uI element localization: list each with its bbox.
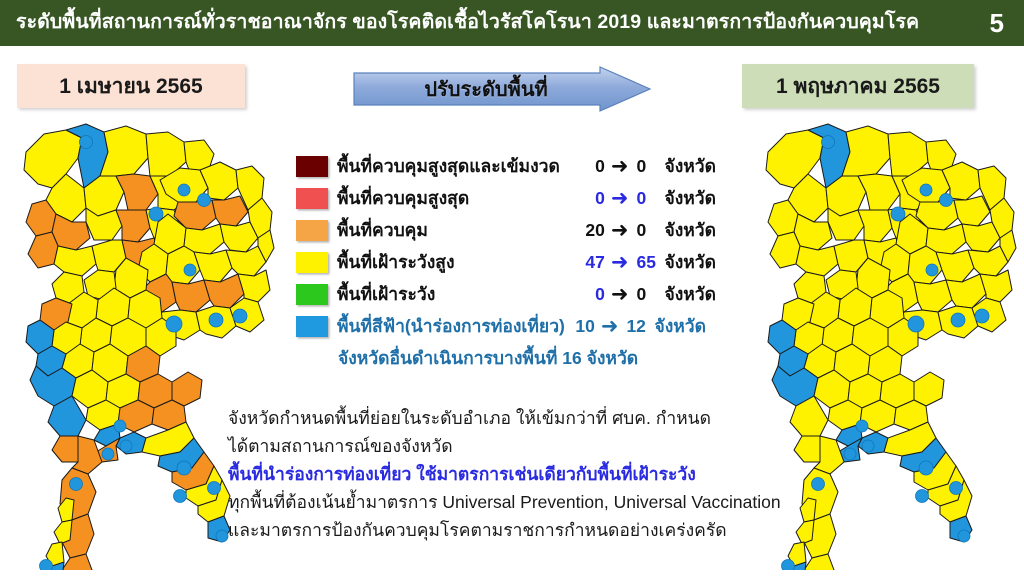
legend-row-orange: พื้นที่ควบคุม 20 ➜ 0 จังหวัด <box>296 214 716 246</box>
arrow-right-icon: ➜ <box>605 188 631 209</box>
date-label-before: 1 เมษายน 2565 <box>59 70 202 103</box>
legend-swatch-dark-red <box>296 156 328 177</box>
legend-swatch-orange <box>296 220 328 241</box>
legend-label-dark-red: พื้นที่ควบคุมสูงสุดและเข้มงวด <box>337 152 560 180</box>
legend-unit-green: จังหวัด <box>656 280 716 308</box>
legend-values-red: 0 ➜ 0 จังหวัด <box>581 184 716 212</box>
legend-row-dark-red: พื้นที่ควบคุมสูงสุดและเข้มงวด 0 ➜ 0 จังห… <box>296 150 716 182</box>
legend-label-blue: พื้นที่สีฟ้า(นำร่องการท่องเที่ยว) <box>337 312 565 340</box>
legend-to-orange: 0 <box>630 220 656 241</box>
arrow-right-icon: ➜ <box>605 156 631 177</box>
legend-from-orange: 20 <box>581 220 605 241</box>
legend: พื้นที่ควบคุมสูงสุดและเข้มงวด 0 ➜ 0 จังห… <box>296 150 716 372</box>
title-bar: ระดับพื้นที่สถานการณ์ทั่วราชอาณาจักร ของ… <box>0 0 1024 46</box>
legend-to-blue: 12 <box>620 316 646 337</box>
legend-row-blue: พื้นที่สีฟ้า(นำร่องการท่องเที่ยว) 10 ➜ 1… <box>296 310 716 342</box>
note-line-1: จังหวัดกำหนดพื้นที่ย่อยในระดับอำเภอ ให้เ… <box>228 404 808 432</box>
legend-from-dark-red: 0 <box>581 156 605 177</box>
legend-label-yellow: พื้นที่เฝ้าระวังสูง <box>337 248 455 276</box>
note-line-3-highlight: พื้นที่นำร่องการท่องเที่ยว ใช้มาตรการเช่… <box>228 460 808 488</box>
legend-unit-dark-red: จังหวัด <box>656 152 716 180</box>
legend-row-green: พื้นที่เฝ้าระวัง 0 ➜ 0 จังหวัด <box>296 278 716 310</box>
date-chip-before: 1 เมษายน 2565 <box>17 64 245 108</box>
arrow-right-icon: ➜ <box>605 284 631 305</box>
note-line-5: และมาตรการป้องกันควบคุมโรคตามราชการกำหนด… <box>228 516 808 544</box>
legend-to-dark-red: 0 <box>630 156 656 177</box>
legend-row-red: พื้นที่ควบคุมสูงสุด 0 ➜ 0 จังหวัด <box>296 182 716 214</box>
legend-to-yellow: 65 <box>630 252 656 273</box>
legend-values-yellow: 47 ➜ 65 จังหวัด <box>581 248 716 276</box>
arrow-right-icon: ➜ <box>595 316 621 337</box>
legend-row-yellow: พื้นที่เฝ้าระวังสูง 47 ➜ 65 จังหวัด <box>296 246 716 278</box>
legend-from-yellow: 47 <box>581 252 605 273</box>
arrow-right-icon: ➜ <box>605 220 631 241</box>
notes-block: จังหวัดกำหนดพื้นที่ย่อยในระดับอำเภอ ให้เ… <box>228 404 808 544</box>
transition-arrow-banner: ปรับระดับพื้นที่ <box>352 66 652 112</box>
legend-unit-yellow: จังหวัด <box>656 248 716 276</box>
legend-label-orange: พื้นที่ควบคุม <box>337 216 428 244</box>
legend-swatch-red <box>296 188 328 209</box>
arrow-right-icon: ➜ <box>605 252 631 273</box>
legend-unit-orange: จังหวัด <box>656 216 716 244</box>
page-number: 5 <box>980 10 1010 36</box>
legend-swatch-yellow <box>296 252 328 273</box>
legend-from-red: 0 <box>581 188 605 209</box>
legend-to-red: 0 <box>630 188 656 209</box>
legend-from-green: 0 <box>581 284 605 305</box>
legend-unit-red: จังหวัด <box>656 184 716 212</box>
legend-values-green: 0 ➜ 0 จังหวัด <box>581 280 716 308</box>
legend-swatch-green <box>296 284 328 305</box>
legend-unit-blue: จังหวัด <box>646 312 706 340</box>
legend-label-red: พื้นที่ควบคุมสูงสุด <box>337 184 469 212</box>
transition-arrow-label: ปรับระดับพื้นที่ <box>352 66 620 112</box>
legend-from-blue: 10 <box>571 316 595 337</box>
legend-values-blue: 10 ➜ 12 จังหวัด <box>571 312 706 340</box>
legend-label-green: พื้นที่เฝ้าระวัง <box>337 280 435 308</box>
legend-note: จังหวัดอื่นดำเนินการบางพื้นที่ 16 จังหวั… <box>296 344 716 372</box>
note-line-2: ได้ตามสถานการณ์ของจังหวัด <box>228 432 808 460</box>
legend-values-dark-red: 0 ➜ 0 จังหวัด <box>581 152 716 180</box>
page-title: ระดับพื้นที่สถานการณ์ทั่วราชอาณาจักร ของ… <box>16 13 919 33</box>
legend-swatch-blue <box>296 316 328 337</box>
legend-to-green: 0 <box>630 284 656 305</box>
date-label-after: 1 พฤษภาคม 2565 <box>776 70 940 103</box>
date-chip-after: 1 พฤษภาคม 2565 <box>742 64 974 108</box>
note-line-4: ทุกพื้นที่ต้องเน้นย้ำมาตรการ Universal P… <box>228 488 808 516</box>
legend-values-orange: 20 ➜ 0 จังหวัด <box>581 216 716 244</box>
